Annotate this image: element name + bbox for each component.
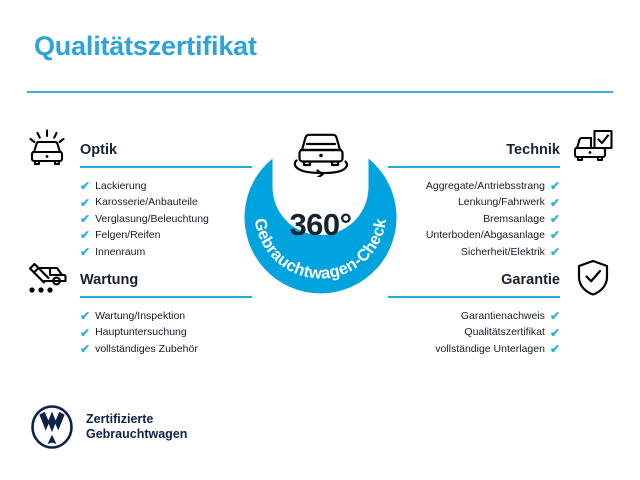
- section-wartung-list: ✔Wartung/Inspektion ✔Hauptuntersuchung ✔…: [22, 308, 254, 357]
- header-divider: [27, 91, 613, 93]
- car-checkbox-icon: [568, 126, 618, 170]
- check-icon: ✔: [550, 310, 560, 322]
- list-item: ✔Karosserie/Anbauteile: [22, 194, 254, 210]
- list-item-label: Verglasung/Beleuchtung: [95, 211, 209, 227]
- check-icon: ✔: [80, 197, 90, 209]
- list-item-label: Hauptuntersuchung: [95, 324, 187, 340]
- section-optik-list: ✔Lackierung ✔Karosserie/Anbauteile ✔Verg…: [22, 178, 254, 260]
- list-item-label: Aggregate/Antriebsstrang: [426, 178, 545, 194]
- page-title: Qualitätszertifikat: [34, 33, 257, 60]
- check-icon: ✔: [550, 213, 560, 225]
- section-technik: Technik Aggregate/Antriebsstrang✔ Lenkun…: [386, 126, 618, 260]
- badge-360-gebrauchtwagen-check: Gebrauchtwagen-Check 360°: [233, 125, 408, 300]
- section-technik-title: Technik: [506, 143, 560, 158]
- check-icon: ✔: [80, 343, 90, 355]
- check-icon: ✔: [550, 343, 560, 355]
- list-item: Aggregate/Antriebsstrang✔: [386, 178, 618, 194]
- section-garantie-list: Garantienachweis✔ Qualitätszertifikat✔ v…: [386, 308, 618, 357]
- list-item: ✔Verglasung/Beleuchtung: [22, 211, 254, 227]
- footer-brand-text: Zertifizierte Gebrauchtwagen: [86, 412, 187, 442]
- list-item: ✔vollständiges Zubehör: [22, 341, 254, 357]
- section-technik-underline: [388, 166, 560, 168]
- section-garantie-title: Garantie: [501, 273, 560, 288]
- list-item: Qualitätszertifikat✔: [386, 324, 618, 340]
- section-wartung-title: Wartung: [80, 273, 138, 288]
- car-shine-icon: [22, 126, 72, 170]
- footer-line-2: Gebrauchtwagen: [86, 427, 187, 442]
- section-technik-list: Aggregate/Antriebsstrang✔ Lenkung/Fahrwe…: [386, 178, 618, 260]
- list-item-label: Karosserie/Anbauteile: [95, 194, 198, 210]
- list-item-label: Lackierung: [95, 178, 146, 194]
- car-rotate-360-icon: [289, 127, 353, 177]
- list-item: Bremsanlage✔: [386, 211, 618, 227]
- check-icon: ✔: [550, 197, 560, 209]
- section-optik-title: Optik: [80, 143, 117, 158]
- list-item-label: Lenkung/Fahrwerk: [458, 194, 545, 210]
- check-icon: ✔: [80, 310, 90, 322]
- list-item: Lenkung/Fahrwerk✔: [386, 194, 618, 210]
- check-icon: ✔: [80, 180, 90, 192]
- list-item: Garantienachweis✔: [386, 308, 618, 324]
- list-item-label: Felgen/Reifen: [95, 227, 160, 243]
- section-garantie-header: Garantie: [386, 256, 618, 302]
- list-item-label: vollständige Unterlagen: [435, 341, 545, 357]
- list-item: ✔Felgen/Reifen: [22, 227, 254, 243]
- check-icon: ✔: [550, 327, 560, 339]
- check-icon: ✔: [80, 213, 90, 225]
- footer-line-1: Zertifizierte: [86, 412, 187, 427]
- check-icon: ✔: [80, 327, 90, 339]
- section-garantie-underline: [388, 296, 560, 298]
- section-wartung: Wartung ✔Wartung/Inspektion ✔Hauptunters…: [22, 256, 254, 357]
- list-item: ✔Lackierung: [22, 178, 254, 194]
- section-technik-header: Technik: [386, 126, 618, 172]
- list-item-label: Qualitätszertifikat: [464, 324, 545, 340]
- section-optik-header: Optik: [22, 126, 254, 172]
- section-optik-underline: [80, 166, 252, 168]
- section-wartung-underline: [80, 296, 252, 298]
- section-garantie: Garantie Garantienachweis✔ Qualitätszert…: [386, 256, 618, 357]
- list-item-label: vollständiges Zubehör: [95, 341, 198, 357]
- volkswagen-logo: [30, 405, 74, 449]
- list-item-label: Bremsanlage: [483, 211, 545, 227]
- section-wartung-header: Wartung: [22, 256, 254, 302]
- certificate-page: Qualitätszertifikat Optik: [0, 0, 640, 480]
- check-icon: ✔: [550, 180, 560, 192]
- section-optik: Optik ✔Lackierung ✔Karosserie/Anbauteile…: [22, 126, 254, 260]
- list-item-label: Unterboden/Abgasanlage: [426, 227, 545, 243]
- list-item-label: Wartung/Inspektion: [95, 308, 185, 324]
- check-icon: ✔: [550, 229, 560, 241]
- car-service-pen-icon: [22, 256, 72, 300]
- check-icon: ✔: [80, 229, 90, 241]
- list-item: ✔Hauptuntersuchung: [22, 324, 254, 340]
- list-item: vollständige Unterlagen✔: [386, 341, 618, 357]
- list-item-label: Garantienachweis: [461, 308, 545, 324]
- footer-brand: Zertifizierte Gebrauchtwagen: [30, 405, 187, 449]
- shield-check-icon: [568, 256, 618, 300]
- list-item: ✔Wartung/Inspektion: [22, 308, 254, 324]
- badge-degrees-label: 360°: [233, 209, 408, 240]
- list-item: Unterboden/Abgasanlage✔: [386, 227, 618, 243]
